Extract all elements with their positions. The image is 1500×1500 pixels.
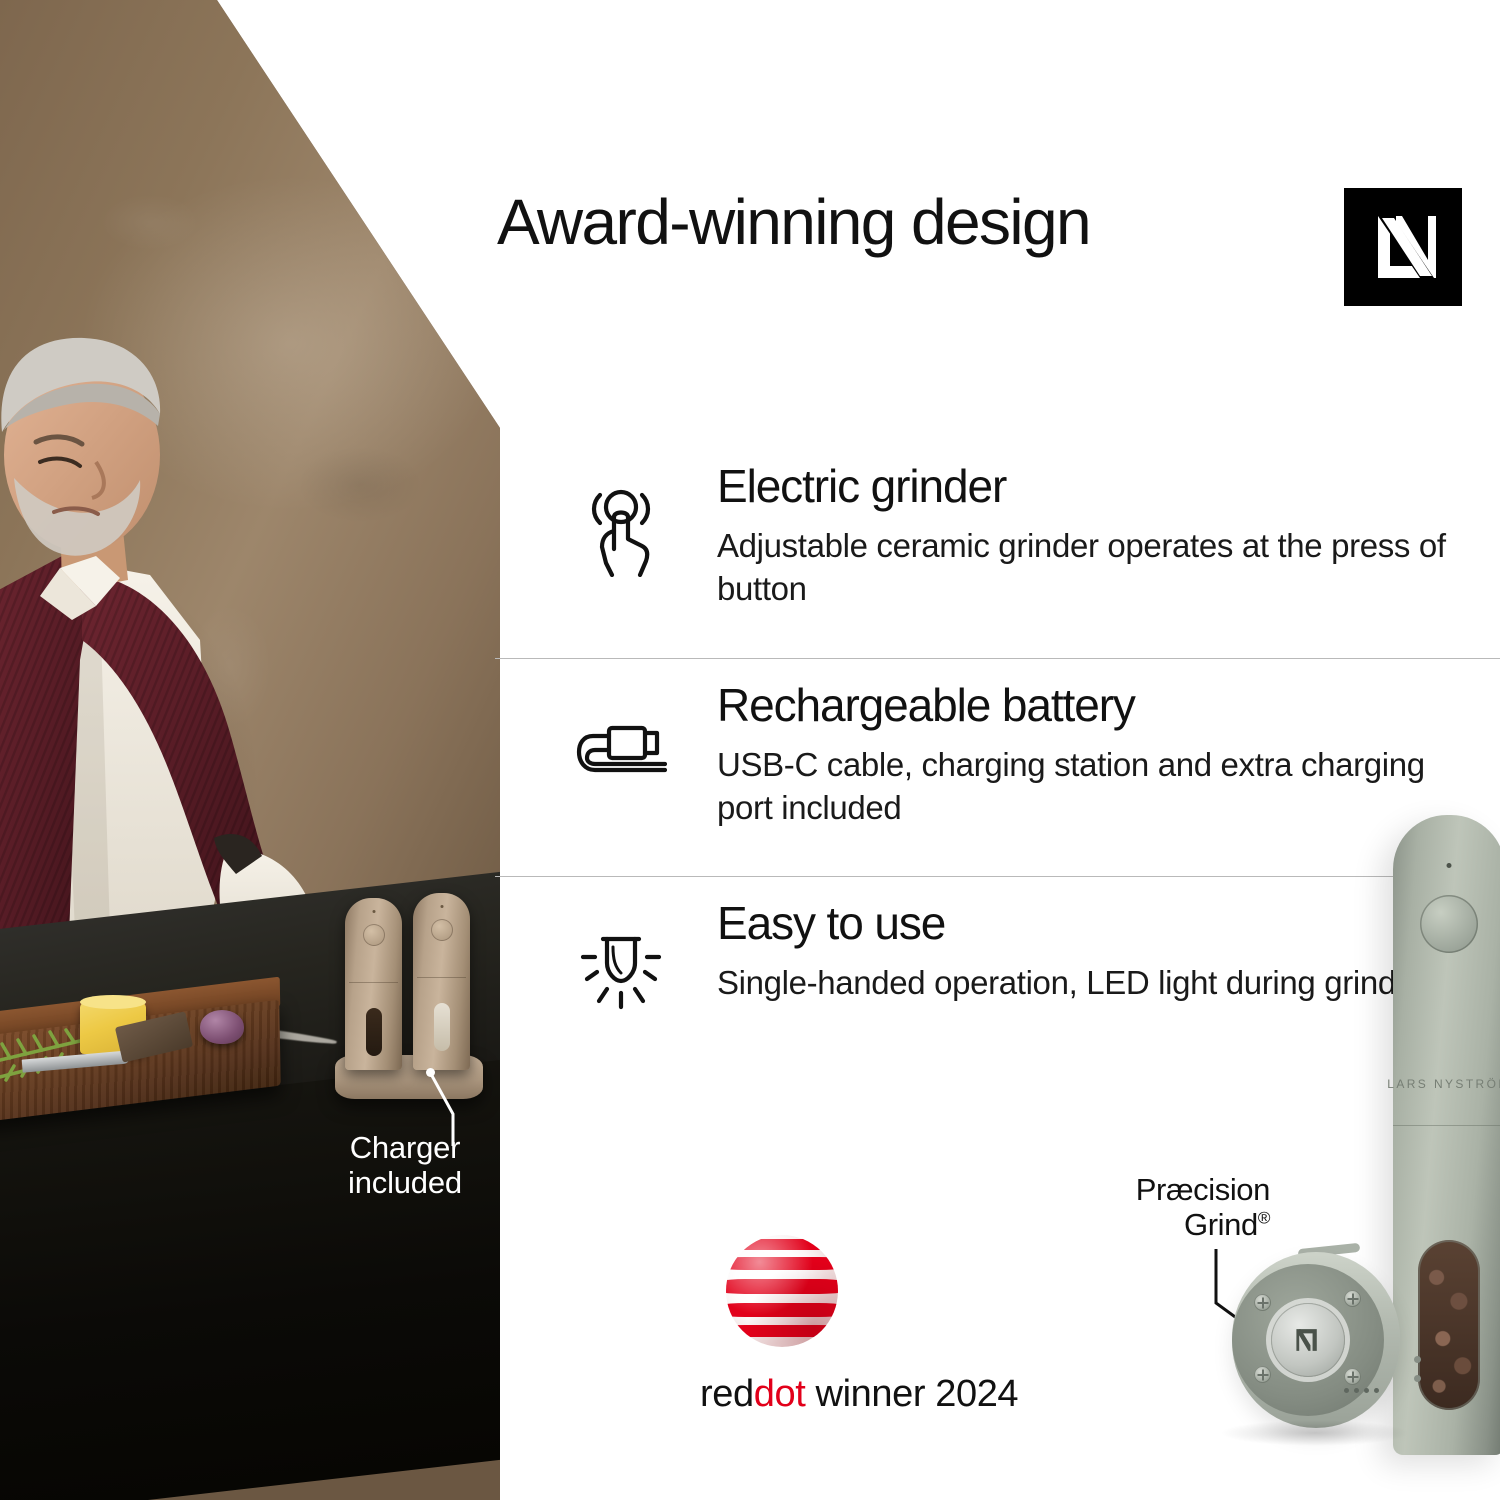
lifestyle-photo: Charger included [0, 0, 500, 1500]
base-screw [1254, 1294, 1271, 1311]
feature-title: Rechargeable battery [717, 681, 1460, 730]
grinder-body-seam [1393, 1125, 1500, 1126]
ln-monogram-icon-small [1295, 1327, 1321, 1353]
red-dot-award: reddot winner 2024 [700, 1235, 1080, 1416]
red-dot-sphere-icon [726, 1235, 838, 1347]
charger-callout-label: Charger included [325, 1130, 485, 1200]
product-wordmark: LARS NYSTRÖM [1387, 1077, 1500, 1091]
reddot-word-winner-year: winner 2024 [805, 1373, 1018, 1415]
tap-finger-icon [573, 484, 669, 580]
page-title: Award-winning design [497, 186, 1137, 258]
ln-monogram-icon [1366, 210, 1440, 284]
led-light-icon [573, 921, 669, 1017]
usb-c-cable-icon [573, 703, 669, 799]
red-dot-caption: reddot winner 2024 [700, 1373, 1080, 1416]
lars-nystrom-logo [1344, 188, 1462, 306]
grinder-power-button [1420, 895, 1478, 953]
peppercorn-view-window [1418, 1240, 1480, 1410]
grinder-led-indicator [1447, 863, 1452, 868]
sage-grinder-base-view [1180, 1252, 1390, 1452]
salt-grinder-photo [413, 893, 470, 1070]
feature-description: Adjustable ceramic grinder operates at t… [717, 525, 1460, 611]
grind-size-indicator-dots [1344, 1388, 1379, 1393]
grinder-base-plate [1232, 1264, 1384, 1416]
sage-grinder-standing: LARS NYSTRÖM [1393, 815, 1500, 1455]
product-feature-graphic: Charger included Award-winning design [0, 0, 1500, 1500]
charging-contacts [1414, 1356, 1421, 1394]
base-screw [1344, 1368, 1361, 1385]
reddot-word-dot: dot [754, 1373, 806, 1415]
grind-adjustment-dial[interactable] [1271, 1303, 1345, 1377]
feature-title: Electric grinder [717, 462, 1460, 511]
feature-item-electric-grinder: Electric grinder Adjustable ceramic grin… [495, 440, 1500, 658]
red-onion [200, 1010, 244, 1044]
base-screw [1344, 1290, 1361, 1307]
product-shadow [1220, 1420, 1410, 1446]
reddot-word-red: red [700, 1373, 754, 1415]
product-photo-group: LARS NYSTRÖM [1170, 800, 1500, 1500]
base-screw [1254, 1366, 1271, 1383]
pepper-grinder-photo [345, 898, 402, 1070]
